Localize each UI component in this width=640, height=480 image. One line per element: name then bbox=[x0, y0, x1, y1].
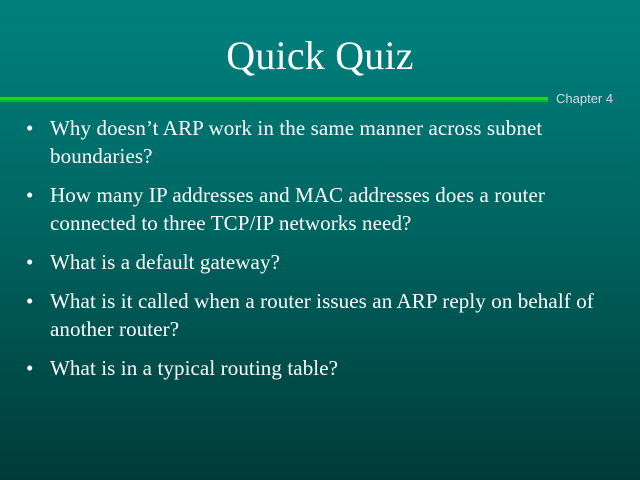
page-title: Quick Quiz bbox=[0, 32, 640, 80]
presentation-slide: Quick Quiz Chapter 4 • Why doesn’t ARP w… bbox=[0, 0, 640, 480]
bullet-point-icon: • bbox=[18, 181, 50, 209]
list-item: • What is it called when a router issues… bbox=[18, 287, 622, 343]
bullet-point-icon: • bbox=[18, 248, 50, 276]
list-item: • What is in a typical routing table? bbox=[18, 354, 622, 382]
bullet-point-icon: • bbox=[18, 114, 50, 142]
bullet-point-icon: • bbox=[18, 287, 50, 315]
list-item-label: What is it called when a router issues a… bbox=[50, 287, 622, 343]
list-item-label: What is a default gateway? bbox=[50, 248, 622, 276]
list-item: • Why doesn’t ARP work in the same manne… bbox=[18, 114, 622, 170]
bullet-list: • Why doesn’t ARP work in the same manne… bbox=[18, 114, 622, 393]
divider-band-bottom bbox=[0, 102, 548, 104]
list-item: • What is a default gateway? bbox=[18, 248, 622, 276]
chapter-label: Chapter 4 bbox=[556, 91, 613, 107]
bullet-point-icon: • bbox=[18, 354, 50, 382]
list-item-label: Why doesn’t ARP work in the same manner … bbox=[50, 114, 622, 170]
title-divider-rule bbox=[0, 95, 548, 104]
list-item: • How many IP addresses and MAC addresse… bbox=[18, 181, 622, 237]
list-item-label: How many IP addresses and MAC addresses … bbox=[50, 181, 622, 237]
list-item-label: What is in a typical routing table? bbox=[50, 354, 622, 382]
